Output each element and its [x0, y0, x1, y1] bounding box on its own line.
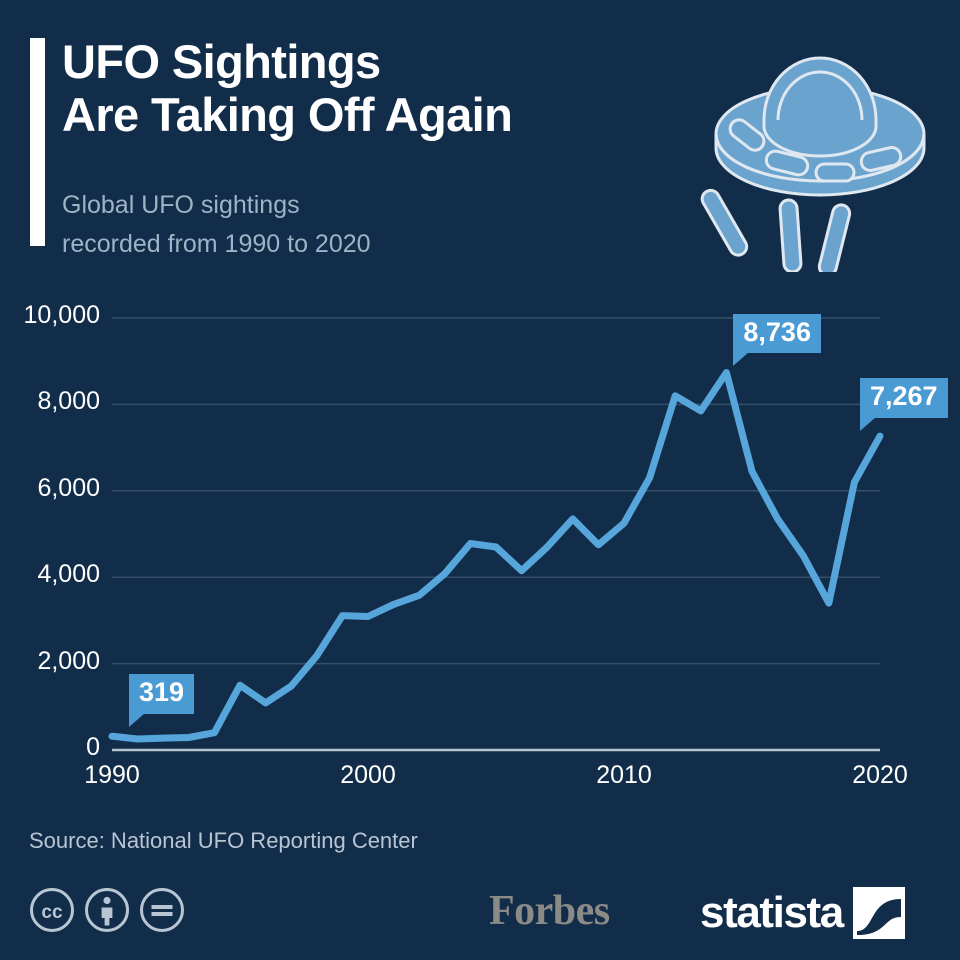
ufo-icon [686, 22, 954, 272]
y-axis-tick-label: 8,000 [0, 387, 100, 416]
data-series-line [112, 373, 880, 739]
x-axis-tick-label: 2020 [820, 761, 940, 790]
y-axis-tick-label: 4,000 [0, 560, 100, 589]
label-pointer-tail [860, 417, 876, 431]
creative-commons-badges: cc [29, 887, 185, 933]
cc-by-attribution-icon [84, 887, 130, 933]
cc-icon: cc [29, 887, 75, 933]
title-line-2: Are Taking Off Again [62, 89, 682, 142]
statista-mark-icon [853, 887, 905, 939]
forbes-logo: Forbes [489, 887, 610, 935]
title-line-1: UFO Sightings [62, 36, 682, 89]
y-axis-tick-label: 2,000 [0, 647, 100, 676]
data-point-label: 7,267 [860, 378, 948, 418]
chart: 02,0004,0006,0008,00010,000 199020002010… [0, 285, 960, 805]
subtitle-line-2: recorded from 1990 to 2020 [62, 225, 682, 264]
svg-text:cc: cc [41, 902, 63, 923]
statista-wordmark: statista [700, 891, 843, 935]
x-axis-tick-label: 2010 [564, 761, 684, 790]
page-title: UFO Sightings Are Taking Off Again [62, 36, 682, 141]
cc-nd-noderivatives-icon [139, 887, 185, 933]
header: UFO Sightings Are Taking Off Again Globa… [0, 0, 960, 285]
chart-plot [0, 285, 960, 805]
label-pointer-tail [733, 352, 749, 366]
y-axis-tick-label: 10,000 [0, 301, 100, 330]
source-note: Source: National UFO Reporting Center [29, 828, 418, 854]
x-axis-tick-label: 1990 [52, 761, 172, 790]
x-axis-tick-label: 2000 [308, 761, 428, 790]
y-axis-tick-label: 6,000 [0, 474, 100, 503]
data-point-label: 319 [129, 674, 194, 714]
statista-logo: statista [700, 887, 905, 939]
subtitle-line-1: Global UFO sightings [62, 186, 682, 225]
y-axis-tick-label: 0 [0, 733, 100, 762]
page-subtitle: Global UFO sightings recorded from 1990 … [62, 186, 682, 263]
label-pointer-tail [129, 713, 145, 727]
title-accent-bar [30, 38, 45, 246]
footer: Source: National UFO Reporting Center cc… [0, 805, 960, 960]
infographic-canvas: UFO Sightings Are Taking Off Again Globa… [0, 0, 960, 960]
data-point-label: 8,736 [733, 314, 821, 354]
